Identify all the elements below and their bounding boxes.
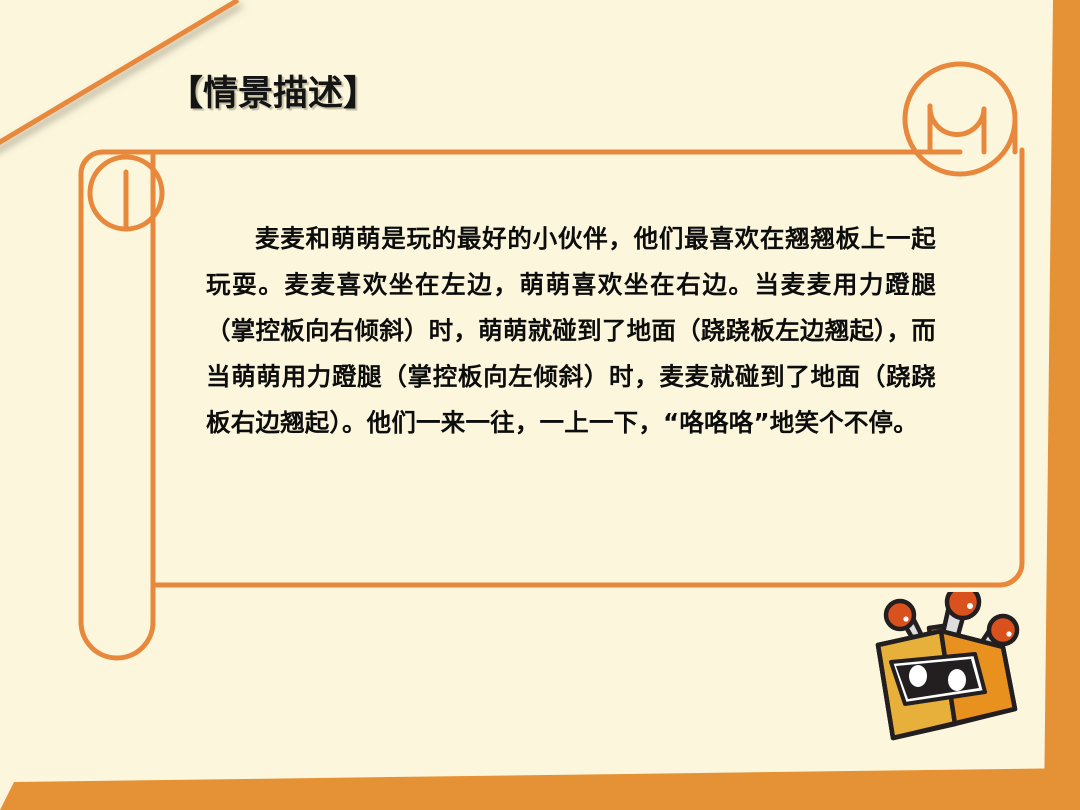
right-orange-band: [1044, 0, 1080, 810]
scenario-description-text: 麦麦和萌萌是玩的最好的小伙伴，他们最喜欢在翘翘板上一起玩耍。麦麦喜欢坐在左边，萌…: [206, 216, 936, 446]
robot-eye-right: [948, 669, 966, 691]
page-title: 【情景描述】: [168, 74, 378, 114]
bottom-orange-band: [0, 768, 1080, 810]
robot-eye-left: [909, 665, 927, 687]
robot-head-illustration: [845, 592, 1045, 742]
slide-canvas: 【情景描述】 麦麦和萌萌是玩的最好的小伙伴，他们最喜欢在翘翘板上一起玩耍。麦麦喜…: [0, 0, 1080, 810]
